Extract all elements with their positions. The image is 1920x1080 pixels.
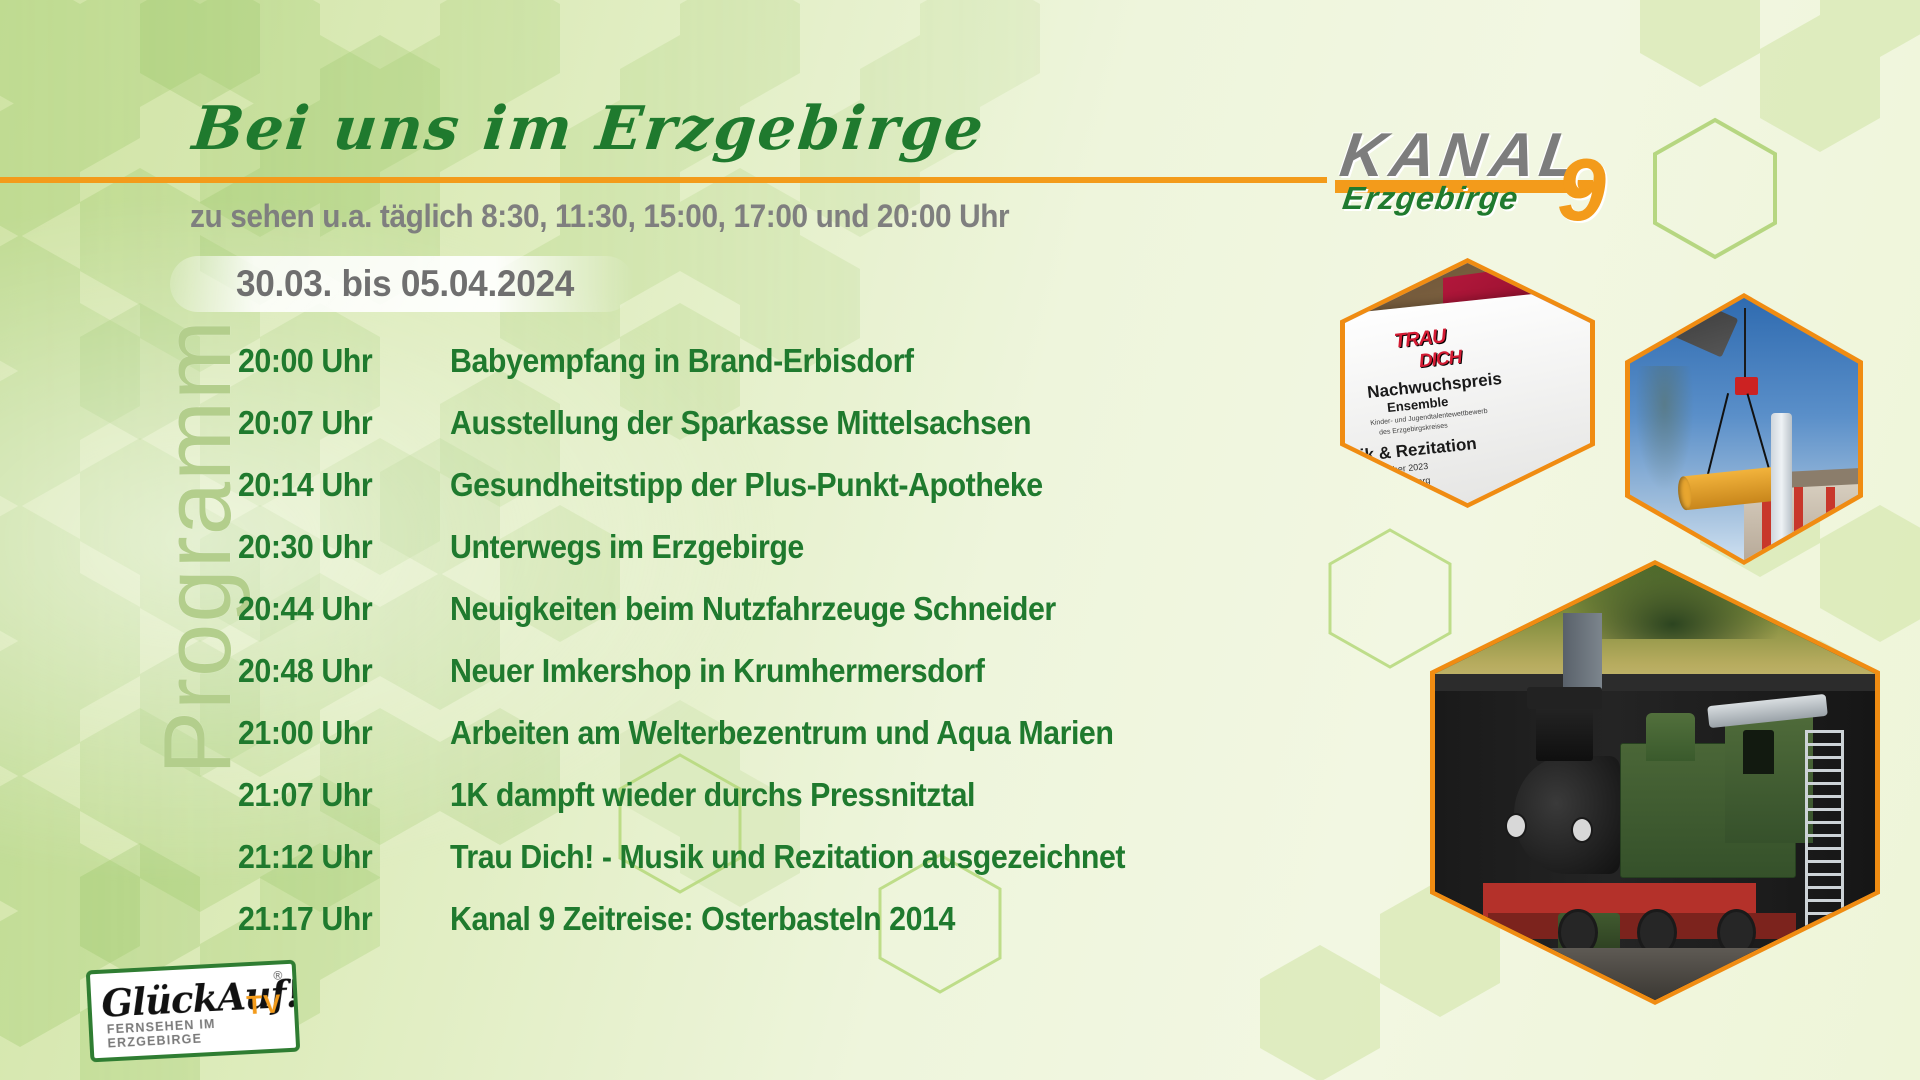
crane-hook [1735,377,1758,395]
program-row: 20:48 Uhr Neuer Imkershop in Krumhermers… [238,652,1308,714]
program-row: 21:07 Uhr 1K dampft wieder durchs Pressn… [238,776,1308,838]
program-title: Kanal 9 Zeitreise: Osterbasteln 2014 [450,900,955,938]
crane-cable [1744,308,1746,381]
program-row: 20:14 Uhr Gesundheitstipp der Plus-Punkt… [238,466,1308,528]
program-row: 20:30 Uhr Unterwegs im Erzgebirge [238,528,1308,590]
certificate-artwork: TRAU DICH Nachwuchspreis Ensemble Kinder… [1345,263,1590,503]
date-range-text: 30.03. bis 05.04.2024 [236,263,574,305]
program-time: 21:17 Uhr [238,900,433,938]
program-title: Neuigkeiten beim Nutzfahrzeuge Schneider [450,590,1056,628]
photo-locomotive [1430,560,1880,1005]
kanal-number: 9 [1557,146,1606,234]
program-time: 20:30 Uhr [238,528,433,566]
program-title: Gesundheitstipp der Plus-Punkt-Apotheke [450,466,1043,504]
program-row: 20:44 Uhr Neuigkeiten beim Nutzfahrzeuge… [238,590,1308,652]
cab-window [1743,730,1774,774]
program-time: 21:07 Uhr [238,776,433,814]
program-time: 21:00 Uhr [238,714,433,752]
hexagon-clip [1435,565,1875,1000]
steam-dome [1646,713,1694,761]
program-title: Neuer Imkershop in Krumhermersdorf [450,652,984,690]
photo-crane [1625,293,1863,565]
program-title: Unterwegs im Erzgebirge [450,528,804,566]
kanal9-logo: KANAL Erzgebirge 9 [1335,118,1625,240]
registered-trademark-icon: ® [273,968,283,982]
chimney-cap [1527,687,1602,709]
date-range-badge: 30.03. bis 05.04.2024 [170,256,634,312]
bare-tree [1635,366,1694,492]
program-row: 21:17 Uhr Kanal 9 Zeitreise: Osterbastel… [238,900,1308,962]
shed-chimney [1563,613,1603,691]
program-time: 20:44 Uhr [238,590,433,628]
program-title: Ausstellung der Sparkasse Mittelsachsen [450,404,1031,442]
program-row: 21:12 Uhr Trau Dich! - Musik und Rezitat… [238,838,1308,900]
program-time: 20:07 Uhr [238,404,433,442]
program-time: 20:48 Uhr [238,652,433,690]
program-time: 20:00 Uhr [238,342,433,380]
program-title: Babyempfang in Brand-Erbisdorf [450,342,914,380]
shed-roof [1435,674,1875,691]
program-title: Arbeiten am Welterbezentrum und Aqua Mar… [450,714,1113,752]
crane-artwork [1630,298,1858,560]
hexagon-clip: TRAU DICH Nachwuchspreis Ensemble Kinder… [1345,263,1590,503]
poster-canvas: Programm Bei uns im Erzgebirge zu sehen … [0,0,1920,1080]
program-time: 21:12 Uhr [238,838,433,876]
header-divider [0,177,1327,183]
red-column [1826,487,1835,560]
show-title: Bei uns im Erzgebirge [189,94,988,164]
program-title: 1K dampft wieder durchs Pressnitztal [450,776,975,814]
hexagon-clip [1630,298,1858,560]
crane-sling [1707,393,1729,475]
program-list: 20:00 Uhr Babyempfang in Brand-Erbisdorf… [238,342,1308,962]
program-row: 20:07 Uhr Ausstellung der Sparkasse Mitt… [238,404,1308,466]
kanal-region-label: Erzgebirge [1340,180,1521,217]
photo-certificate: TRAU DICH Nachwuchspreis Ensemble Kinder… [1340,258,1595,508]
program-row: 20:00 Uhr Babyempfang in Brand-Erbisdorf [238,342,1308,404]
ladder [1805,730,1845,956]
locomotive-artwork [1435,565,1875,1000]
crane-sling [1746,394,1771,475]
program-title: Trau Dich! - Musik und Rezitation ausgez… [450,838,1125,876]
airtimes-text: zu sehen u.a. täglich 8:30, 11:30, 15:00… [190,198,1009,235]
program-row: 21:00 Uhr Arbeiten am Welterbezentrum un… [238,714,1308,776]
smokebox [1514,756,1620,873]
red-column [1794,487,1803,560]
glueckauf-tv-logo: GlückAuf! TV ® FERNSEHEN IM ERZGEBIRGE [86,960,301,1063]
track-ballast [1435,948,1875,1000]
program-time: 20:14 Uhr [238,466,433,504]
